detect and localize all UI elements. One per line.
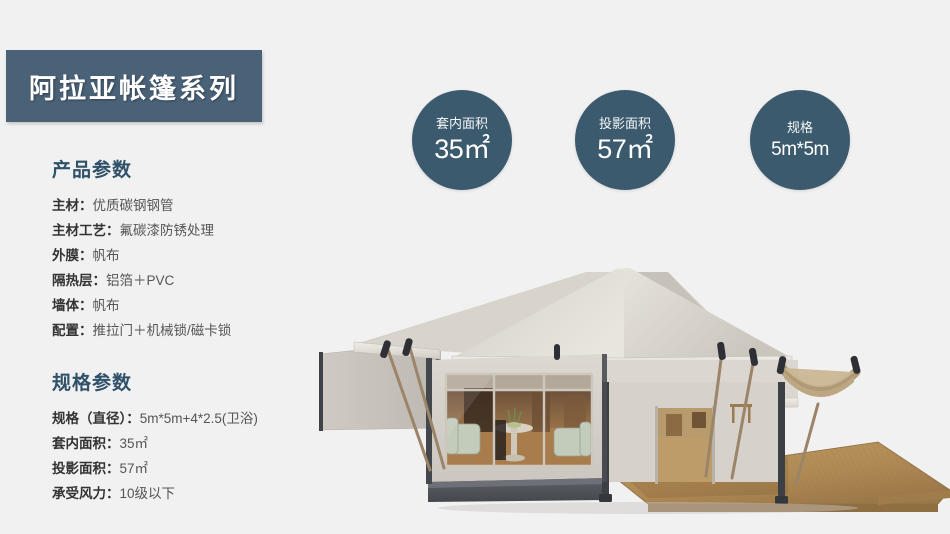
spec-value: 铝箔＋PVC [106,273,174,288]
spec-label: 隔热层： [52,273,106,288]
spec-value: 10级以下 [120,486,176,501]
spec-row: 隔热层：铝箔＋PVC [52,268,352,293]
stat-label: 投影面积 [599,117,651,130]
spec-label: 规格（直径）： [52,411,140,426]
stat-label: 规格 [787,121,813,134]
spec-label: 承受风力： [52,486,120,501]
spec-label: 主材： [52,198,93,213]
tent-illustration: 帐篷客 [318,232,950,534]
stat-circle-interior-area: 套内面积 35㎡ [412,90,512,190]
tent-render: 帐篷客 [318,232,950,534]
stat-circle-dimensions: 规格 5m*5m [750,90,850,190]
stat-label: 套内面积 [436,117,488,130]
spec-row: 外膜：帆布 [52,243,352,268]
spec-row: 主材工艺：氟碳漆防锈处理 [52,218,352,243]
stat-circle-projected-area: 投影面积 57㎡ [575,90,675,190]
stat-value: 35㎡ [434,136,490,163]
spec-column: 产品参数 主材：优质碳钢钢管 主材工艺：氟碳漆防锈处理 外膜：帆布 隔热层：铝箔… [52,155,352,506]
spec-value: 优质碳钢钢管 [93,198,174,213]
spec-value: 推拉门＋机械锁/磁卡锁 [93,323,232,338]
stat-value: 57㎡ [597,136,653,163]
spec-value: 帆布 [93,248,120,263]
spec-value: 5m*5m+4*2.5(卫浴) [140,411,258,426]
spec-label: 主材工艺： [52,223,120,238]
page-title: 阿拉亚帐篷系列 [29,67,239,106]
spec-label: 墙体： [52,298,93,313]
spec-row: 规格（直径）：5m*5m+4*2.5(卫浴) [52,406,352,431]
spec-row: 墙体：帆布 [52,293,352,318]
spec-row: 投影面积：57㎡ [52,456,352,481]
spec-value: 35㎡ [120,436,149,451]
spec-label: 套内面积： [52,436,120,451]
spec-label: 投影面积： [52,461,120,476]
spec-params-heading: 规格参数 [52,368,352,395]
spec-label: 外膜： [52,248,93,263]
spec-value: 57㎡ [120,461,149,476]
spec-row: 承受风力：10级以下 [52,481,352,506]
spec-row: 主材：优质碳钢钢管 [52,193,352,218]
spec-value: 氟碳漆防锈处理 [120,223,215,238]
product-params-heading: 产品参数 [52,155,352,182]
spec-row: 套内面积：35㎡ [52,431,352,456]
spec-row: 配置：推拉门＋机械锁/磁卡锁 [52,318,352,343]
stat-value: 5m*5m [771,140,829,159]
title-banner: 阿拉亚帐篷系列 [6,50,262,122]
spec-label: 配置： [52,323,93,338]
page-root: 阿拉亚帐篷系列 产品参数 主材：优质碳钢钢管 主材工艺：氟碳漆防锈处理 外膜：帆… [0,0,950,534]
spec-value: 帆布 [93,298,120,313]
